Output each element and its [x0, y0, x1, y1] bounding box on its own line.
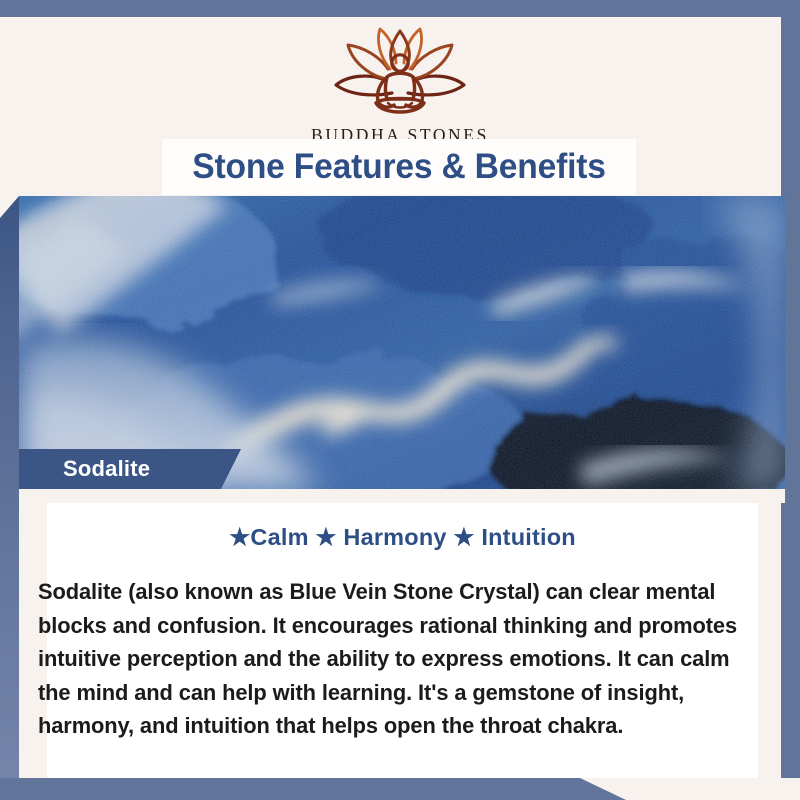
frame-bottom-bar — [0, 778, 624, 800]
poster-canvas: BUDDHA STONES Stone Features & Benefits — [0, 0, 800, 800]
frame-left-bar — [0, 196, 19, 800]
brand-logo: BUDDHA STONES — [19, 23, 781, 146]
stone-keywords: ★Calm ★ Harmony ★ Intuition — [47, 523, 758, 551]
stone-name-label: Sodalite — [63, 449, 150, 489]
frame-top-bar — [0, 0, 800, 17]
stone-description: Sodalite (also known as Blue Vein Stone … — [38, 575, 753, 743]
sodalite-texture-graphic — [19, 196, 785, 489]
content-top-spacer — [19, 489, 785, 503]
stone-photo — [19, 196, 785, 489]
lotus-meditation-figure-icon — [314, 23, 486, 123]
page-title: Stone Features & Benefits — [171, 140, 626, 194]
